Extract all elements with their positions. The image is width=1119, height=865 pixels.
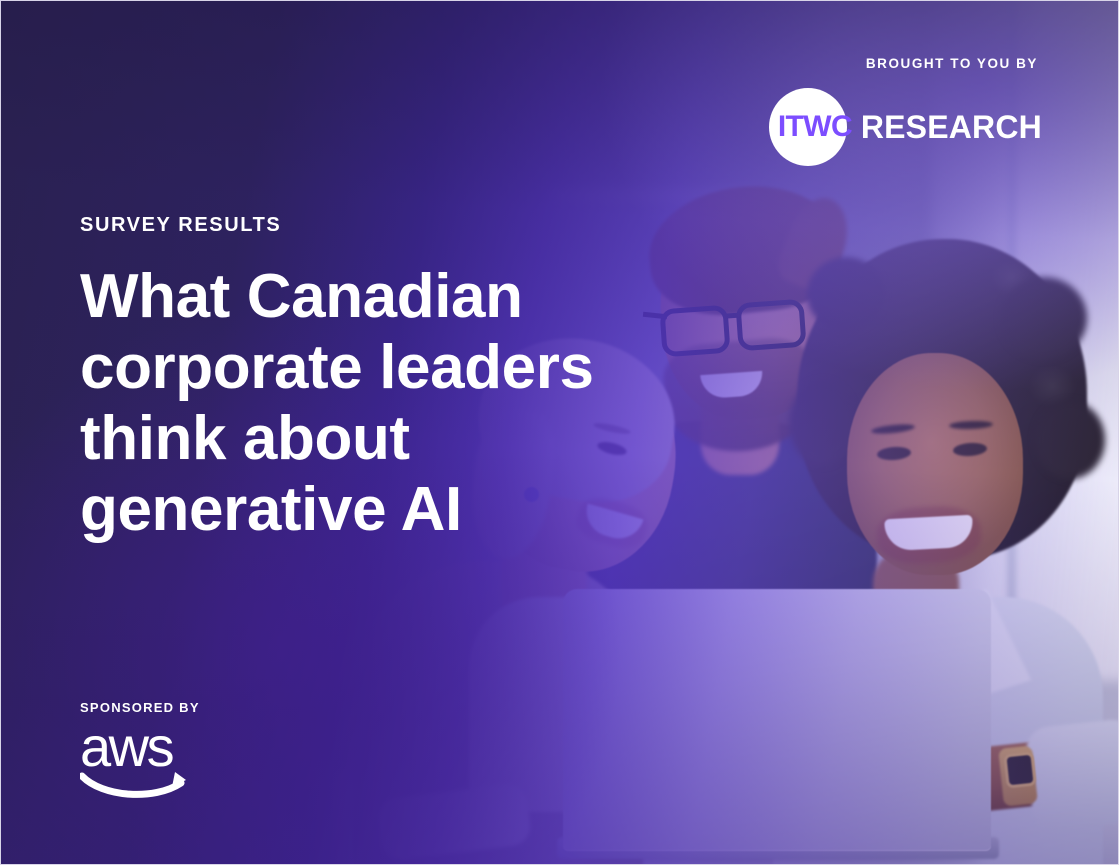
title-line-4: generative AI bbox=[80, 474, 720, 545]
itwc-circle-logo: ITWC bbox=[769, 88, 847, 166]
research-wordmark: RESEARCH bbox=[861, 111, 1042, 143]
itwc-research-lockup: ITWC RESEARCH bbox=[769, 88, 1042, 166]
page-title: What Canadian corporate leaders think ab… bbox=[80, 261, 720, 545]
cover-content: BROUGHT TO YOU BY ITWC RESEARCH SURVEY R… bbox=[1, 1, 1118, 864]
brought-to-you-by-label: BROUGHT TO YOU BY bbox=[769, 57, 1038, 71]
title-block: SURVEY RESULTS What Canadian corporate l… bbox=[80, 215, 720, 545]
aws-logo: aws bbox=[80, 724, 196, 798]
title-line-1: What Canadian bbox=[80, 261, 720, 332]
report-cover: Team of three looking at a laptop screen… bbox=[0, 0, 1119, 865]
aws-smile-swoosh bbox=[80, 770, 196, 800]
itwc-logo-text: ITWC bbox=[778, 112, 852, 142]
title-line-2: corporate leaders bbox=[80, 332, 720, 403]
sponsored-by-label: SPONSORED BY bbox=[80, 701, 200, 714]
sponsor-block: SPONSORED BY aws bbox=[80, 701, 200, 798]
aws-wordmark: aws bbox=[80, 719, 172, 775]
eyebrow-label: SURVEY RESULTS bbox=[80, 215, 720, 235]
title-line-3: think about bbox=[80, 403, 720, 474]
publisher-block: BROUGHT TO YOU BY ITWC RESEARCH bbox=[769, 57, 1042, 166]
